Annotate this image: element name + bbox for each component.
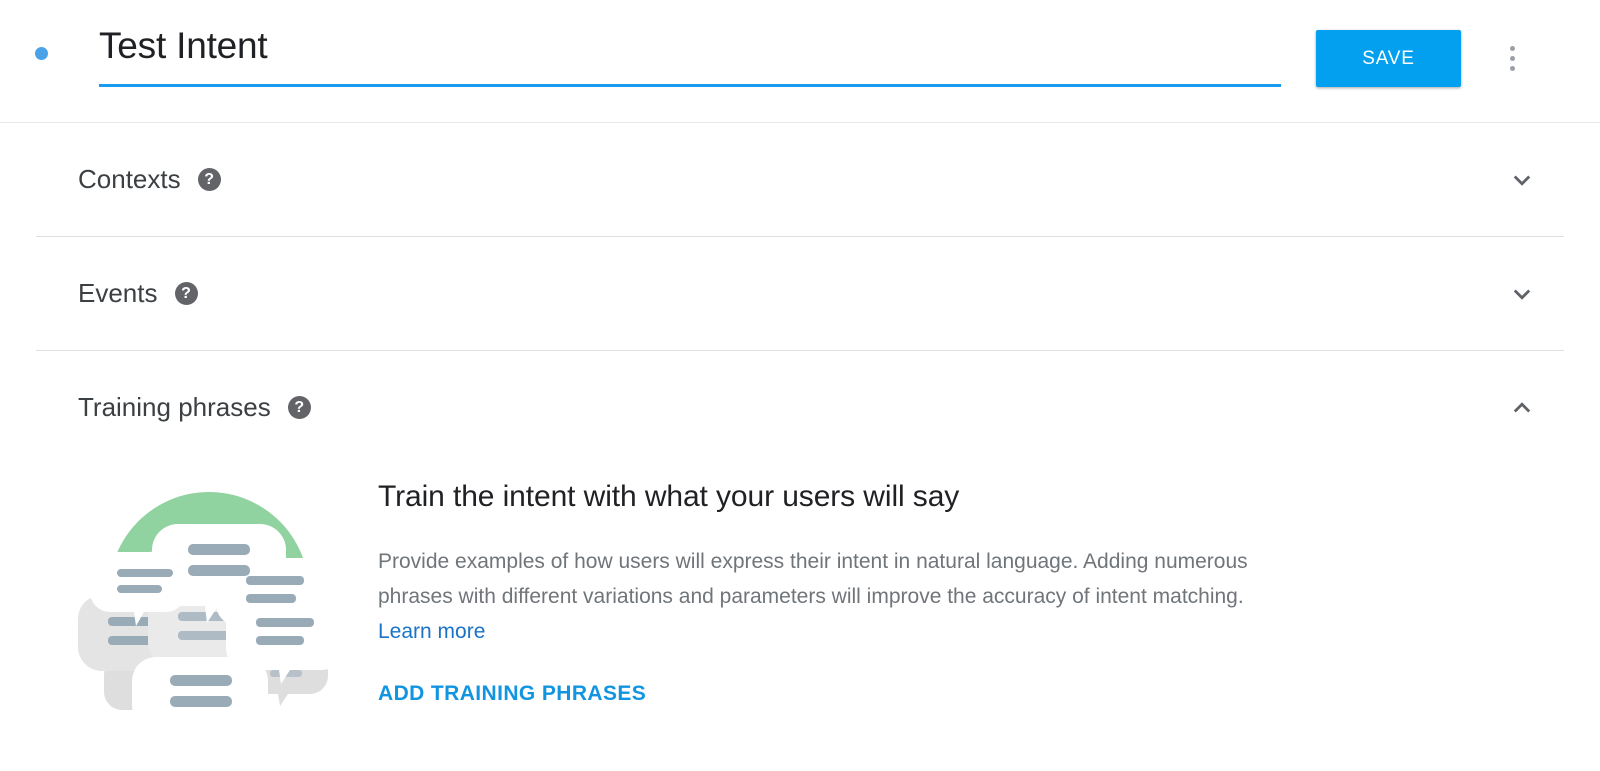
add-training-phrases-button[interactable]: ADD TRAINING PHRASES [378,682,646,706]
training-phrases-heading: Train the intent with what your users wi… [378,480,1258,514]
learn-more-link[interactable]: Learn more [378,620,485,643]
section-label-training-phrases: Training phrases [36,392,271,423]
help-icon-contexts[interactable]: ? [198,168,221,191]
kebab-dot [1510,66,1515,71]
help-icon-events[interactable]: ? [175,282,198,305]
intent-title-underline [99,84,1281,87]
kebab-dot [1510,56,1515,61]
help-icon-training-phrases[interactable]: ? [288,396,311,419]
training-phrases-description: Provide examples of how users will expre… [378,544,1258,649]
section-header-training-phrases[interactable]: Training phrases ? [36,351,1564,464]
intent-status-dot [35,47,48,60]
save-button[interactable]: SAVE [1316,30,1461,87]
section-header-events[interactable]: Events ? [36,237,1564,351]
intent-sections: Contexts ? Events ? Training phrases ? [0,123,1600,464]
training-phrases-panel: Train the intent with what your users wi… [0,464,1600,722]
chevron-up-icon-training-phrases[interactable] [1505,391,1539,425]
kebab-dot [1510,46,1515,51]
chevron-down-icon-events[interactable] [1505,277,1539,311]
section-header-contexts[interactable]: Contexts ? [36,123,1564,237]
chevron-down-icon-contexts[interactable] [1505,163,1539,197]
more-vert-icon[interactable] [1498,38,1526,78]
description-text: Provide examples of how users will expre… [378,550,1248,608]
intent-title-field[interactable] [99,22,1281,70]
section-label-events: Events [36,278,158,309]
intent-header: SAVE [0,0,1600,123]
section-label-contexts: Contexts [36,164,181,195]
speech-bubbles-illustration [78,472,340,722]
intent-title-input[interactable] [99,22,1281,70]
training-phrases-empty-state: Train the intent with what your users wi… [340,472,1258,722]
